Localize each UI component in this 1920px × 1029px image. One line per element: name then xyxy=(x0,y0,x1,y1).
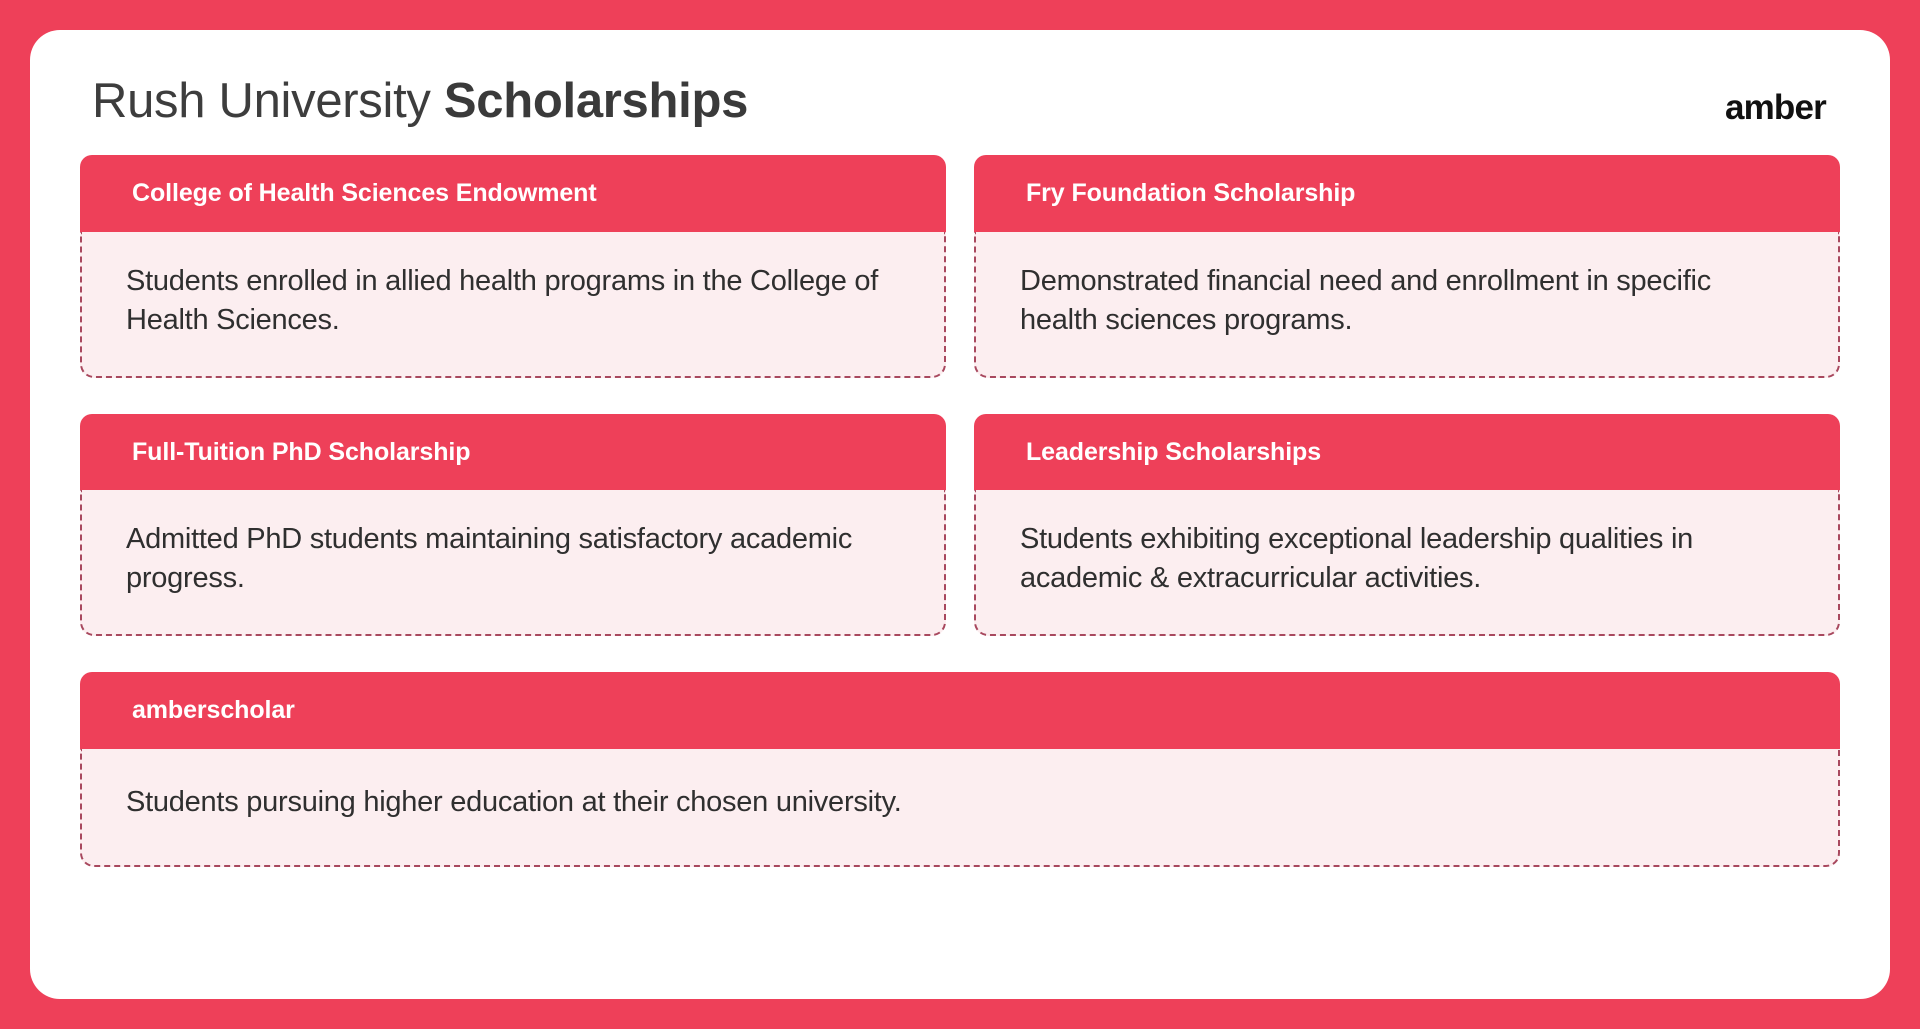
scholarship-criteria: Students exhibiting exceptional leadersh… xyxy=(1020,520,1794,597)
scholarship-criteria: Students enrolled in allied health progr… xyxy=(126,262,900,339)
page-title: Rush University Scholarships xyxy=(92,76,748,127)
scholarship-card: Full-Tuition PhD Scholarship Admitted Ph… xyxy=(80,414,946,637)
infographic-card: Rush University Scholarships amber Colle… xyxy=(30,30,1890,999)
scholarship-card: College of Health Sciences Endowment Stu… xyxy=(80,155,946,378)
scholarship-name: amberscholar xyxy=(80,672,1840,749)
scholarship-card-grid: College of Health Sciences Endowment Stu… xyxy=(80,155,1840,867)
scholarship-name: College of Health Sciences Endowment xyxy=(80,155,946,232)
scholarship-card: Leadership Scholarships Students exhibit… xyxy=(974,414,1840,637)
scholarship-name: Leadership Scholarships xyxy=(974,414,1840,491)
scholarship-body: Students pursuing higher education at th… xyxy=(80,749,1840,867)
amber-logo: amber xyxy=(1725,76,1830,125)
page-title-regular: Rush University xyxy=(92,74,444,128)
scholarship-criteria: Admitted PhD students maintaining satisf… xyxy=(126,520,900,597)
scholarship-body: Students exhibiting exceptional leadersh… xyxy=(974,490,1840,636)
scholarship-body: Admitted PhD students maintaining satisf… xyxy=(80,490,946,636)
scholarship-body: Students enrolled in allied health progr… xyxy=(80,232,946,378)
scholarship-name: Fry Foundation Scholarship xyxy=(974,155,1840,232)
scholarship-card: Fry Foundation Scholarship Demonstrated … xyxy=(974,155,1840,378)
header-row: Rush University Scholarships amber xyxy=(80,70,1840,127)
scholarship-criteria: Demonstrated financial need and enrollme… xyxy=(1020,262,1794,339)
scholarship-body: Demonstrated financial need and enrollme… xyxy=(974,232,1840,378)
scholarship-card: amberscholar Students pursuing higher ed… xyxy=(80,672,1840,867)
scholarship-criteria: Students pursuing higher education at th… xyxy=(126,783,1794,822)
page-title-bold: Scholarships xyxy=(444,74,748,128)
scholarship-name: Full-Tuition PhD Scholarship xyxy=(80,414,946,491)
